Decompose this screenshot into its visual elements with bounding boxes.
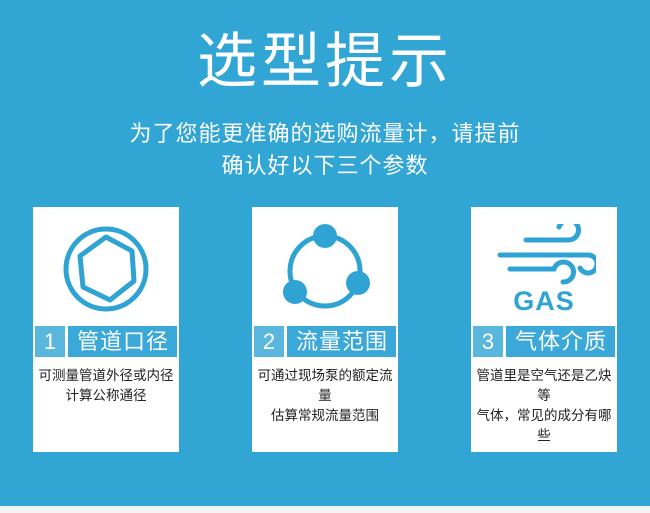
tip-card-list: 1 管道口径 可测量管道外径或内径 计算公称通径 2 bbox=[33, 207, 617, 452]
page-subtitle-line-2: 确认好以下三个参数 bbox=[0, 150, 650, 182]
card-title: 流量范围 bbox=[287, 326, 396, 357]
card-description-line-1: 可通过现场泵的额定流量 bbox=[256, 366, 394, 406]
card-badge: 2 流量范围 bbox=[254, 326, 396, 357]
ring-three-dots-icon bbox=[252, 207, 398, 325]
card-description: 可通过现场泵的额定流量 估算常规流量范围 bbox=[252, 366, 398, 426]
wind-gas-icon: GAS bbox=[471, 207, 617, 325]
page-subtitle: 为了您能更准确的选购流量计，请提前 确认好以下三个参数 bbox=[0, 118, 650, 182]
card-description-line-2: 气体，常见的成分有哪些 bbox=[475, 406, 613, 446]
tip-card-pipe-diameter[interactable]: 1 管道口径 可测量管道外径或内径 计算公称通径 bbox=[33, 207, 179, 452]
card-number: 2 bbox=[254, 326, 284, 357]
tip-card-gas-medium[interactable]: GAS 3 气体介质 管道里是空气还是乙炔等 气体，常见的成分有哪些 bbox=[471, 207, 617, 452]
card-description-line-1: 管道里是空气还是乙炔等 bbox=[475, 366, 613, 406]
tip-card-flow-range[interactable]: 2 流量范围 可通过现场泵的额定流量 估算常规流量范围 bbox=[252, 207, 398, 452]
bottom-strip bbox=[0, 506, 650, 513]
card-description: 可测量管道外径或内径 计算公称通径 bbox=[35, 366, 178, 406]
card-description-line-1: 可测量管道外径或内径 bbox=[39, 366, 174, 386]
gas-text-label: GAS bbox=[513, 288, 575, 315]
card-description-line-2: 估算常规流量范围 bbox=[256, 406, 394, 426]
card-number: 3 bbox=[473, 326, 503, 357]
card-description-line-2: 计算公称通径 bbox=[39, 386, 174, 406]
card-badge: 3 气体介质 bbox=[473, 326, 615, 357]
page-title: 选型提示 bbox=[0, 26, 650, 98]
card-number: 1 bbox=[35, 326, 65, 357]
selection-tips-banner: 选型提示 为了您能更准确的选购流量计，请提前 确认好以下三个参数 1 管道口径 … bbox=[0, 0, 650, 513]
page-subtitle-line-1: 为了您能更准确的选购流量计，请提前 bbox=[0, 118, 650, 150]
circle-hexagon-icon bbox=[33, 207, 179, 325]
card-description: 管道里是空气还是乙炔等 气体，常见的成分有哪些 bbox=[471, 366, 617, 446]
card-badge: 1 管道口径 bbox=[35, 326, 177, 357]
card-title: 管道口径 bbox=[68, 326, 177, 357]
card-title: 气体介质 bbox=[506, 326, 615, 357]
